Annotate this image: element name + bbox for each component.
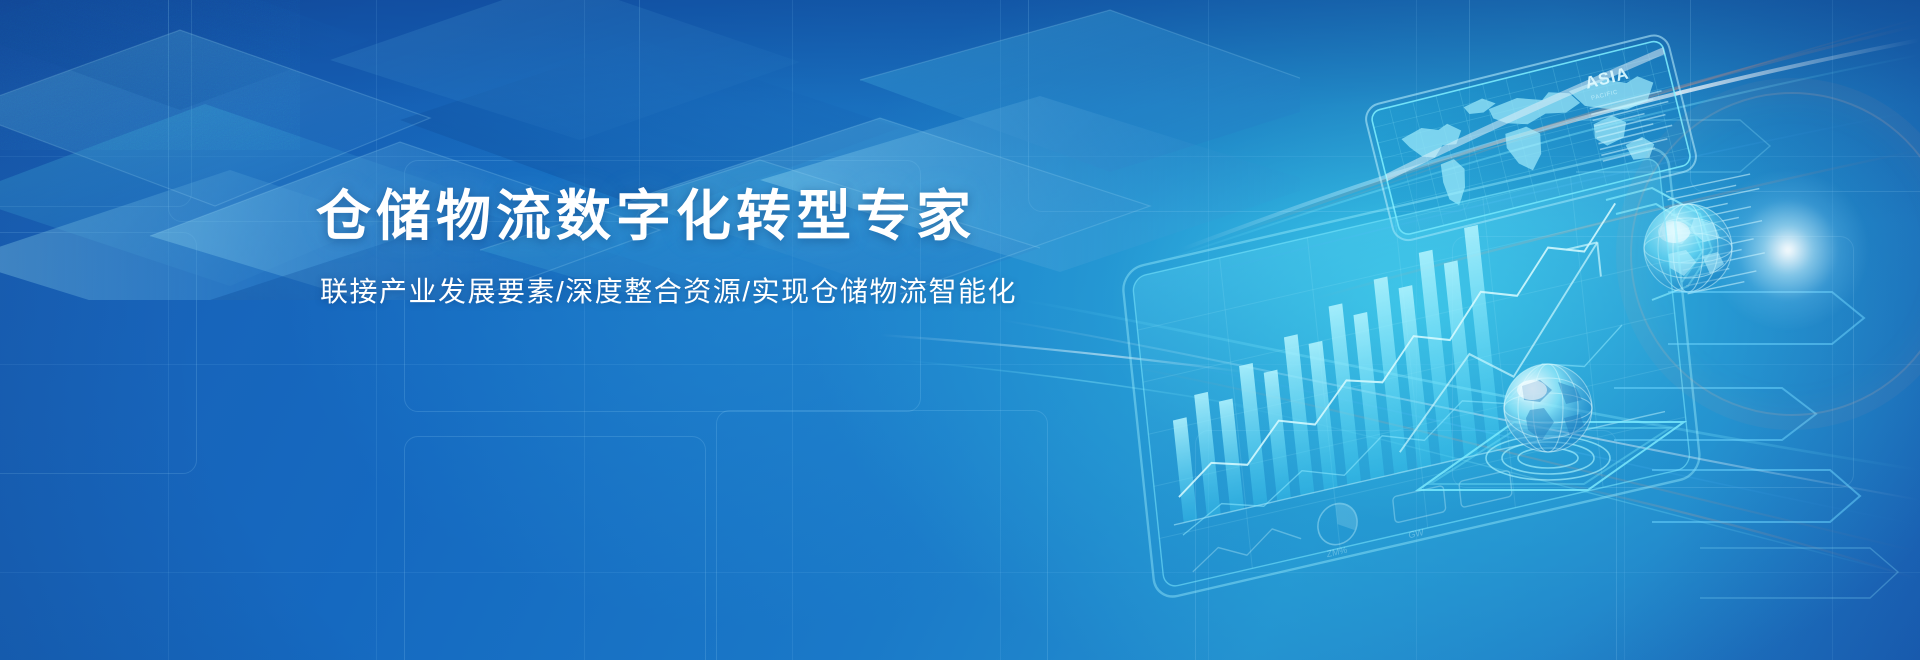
banner-copy: 仓储物流数字化转型专家 联接产业发展要素/深度整合资源/实现仓储物流智能化 — [316, 186, 1116, 310]
tech-hud-graphic: ASIA PACIFIC — [1040, 0, 1920, 660]
background-noise — [0, 0, 300, 150]
lens-flare — [1708, 170, 1868, 330]
hero-banner: ASIA PACIFIC — [0, 0, 1920, 660]
banner-subtitle: 联接产业发展要素/深度整合资源/实现仓储物流智能化 — [320, 270, 1116, 310]
banner-title: 仓储物流数字化转型专家 — [316, 186, 1116, 248]
globe-lower — [1504, 364, 1592, 452]
